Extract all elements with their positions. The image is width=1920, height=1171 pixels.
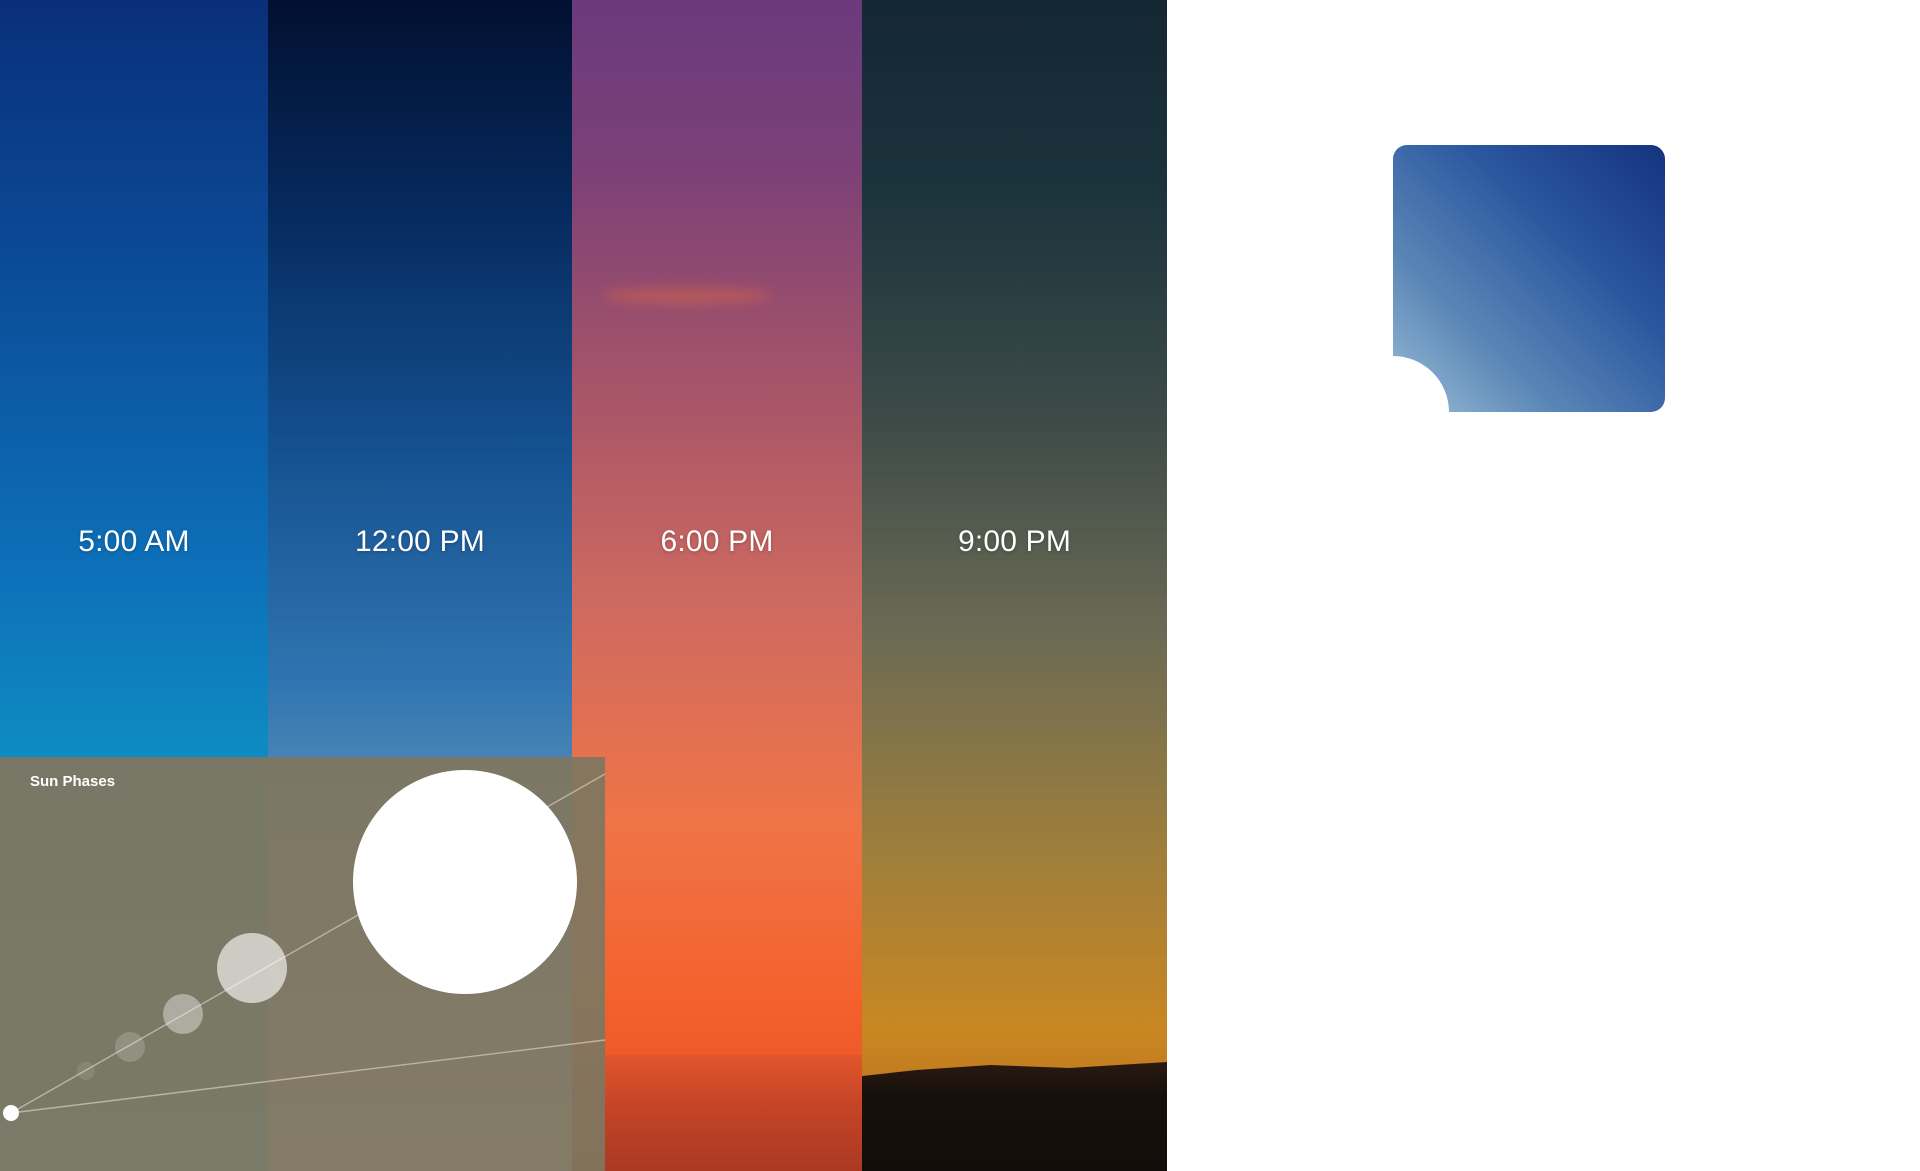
sky-gradient-dusk — [862, 0, 1167, 1171]
sun-phases-diagram — [0, 757, 605, 1171]
gradient-tile[interactable] — [1393, 145, 1665, 412]
phase-circle-1 — [77, 1062, 95, 1080]
sun-phases-title: Sun Phases — [30, 773, 115, 790]
time-label-noon: 12:00 PM — [268, 525, 572, 559]
sky-column-sunset[interactable]: 6:00 PM — [572, 0, 862, 1171]
time-label-sunset: 6:00 PM — [572, 525, 862, 559]
gradient-tile-fill — [1393, 145, 1665, 412]
sun-phases-panel[interactable] — [0, 757, 605, 1171]
cloud-wisp-sunset — [602, 288, 772, 304]
app-canvas: 5:00 AM 12:00 PM 6:00 PM 9:00 PM — [0, 0, 1920, 1171]
time-label-dusk: 9:00 PM — [862, 525, 1167, 559]
sky-gradient-sunset — [572, 0, 862, 1171]
phase-circle-4 — [217, 933, 287, 1003]
phase-circle-5 — [353, 770, 577, 994]
phase-circle-2 — [115, 1032, 145, 1062]
lower-ray — [11, 1040, 605, 1113]
phase-circle-3 — [163, 994, 203, 1034]
horizon-band-sunset — [572, 1055, 862, 1171]
time-label-dawn: 5:00 AM — [0, 525, 268, 559]
horizon-silhouette-dusk — [862, 1062, 1167, 1171]
sky-column-dusk[interactable]: 9:00 PM — [862, 0, 1167, 1171]
origin-dot — [3, 1105, 19, 1121]
